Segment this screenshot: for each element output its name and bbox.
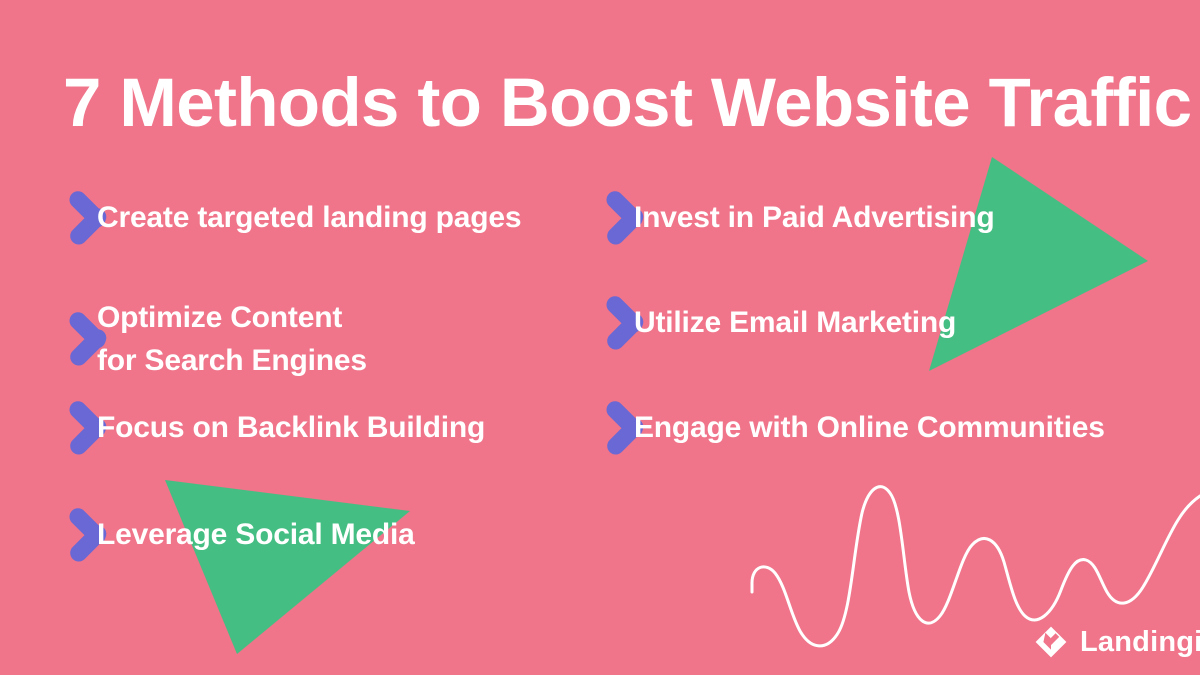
landingi-diamond-icon [1033, 624, 1069, 660]
list-item-label: Utilize Email Marketing [605, 301, 956, 344]
page-title: 7 Methods to Boost Website Traffic [63, 62, 1191, 144]
list-item-label: Focus on Backlink Building [68, 406, 485, 449]
slide-canvas: 7 Methods to Boost Website Traffic Creat… [0, 0, 1200, 675]
list-item[interactable]: Focus on Backlink Building [68, 406, 485, 449]
list-item-label: Engage with Online Communities [605, 406, 1105, 449]
list-item[interactable]: Optimize Content for Search Engines [68, 296, 367, 382]
list-item[interactable]: Leverage Social Media [68, 513, 415, 556]
landingi-wordmark: Landingi [1080, 626, 1200, 658]
list-item[interactable]: Create targeted landing pages [68, 196, 521, 239]
list-item[interactable]: Utilize Email Marketing [605, 301, 956, 344]
list-item-label: Invest in Paid Advertising [605, 196, 994, 239]
list-item[interactable]: Engage with Online Communities [605, 406, 1105, 449]
list-item-label: Leverage Social Media [68, 513, 415, 556]
landingi-logo[interactable]: Landingi [1033, 624, 1200, 660]
list-item-label: Create targeted landing pages [68, 196, 521, 239]
list-item-label: Optimize Content for Search Engines [68, 296, 367, 382]
list-item[interactable]: Invest in Paid Advertising [605, 196, 994, 239]
